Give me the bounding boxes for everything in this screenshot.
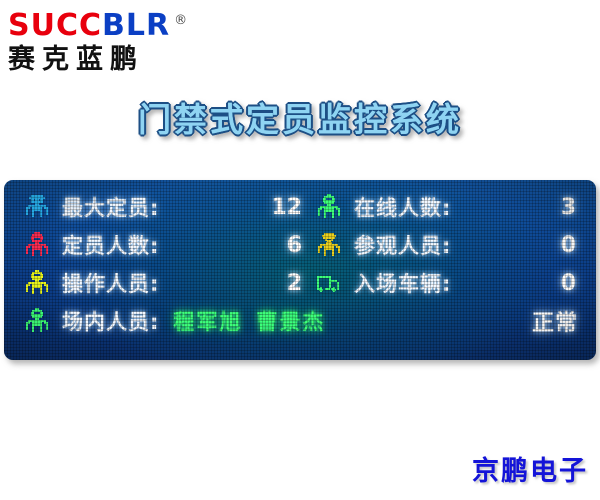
led-label-onsite: 场内人员: xyxy=(62,306,159,336)
person-visitor-icon xyxy=(314,230,344,260)
truck-icon xyxy=(314,268,344,298)
led-value: 2 xyxy=(287,271,314,296)
person-icon xyxy=(22,230,52,260)
led-label: 在线人数: xyxy=(354,192,451,222)
brand-wordmark-succ: SUCC xyxy=(8,8,102,43)
led-cell-max-capacity: 最大定员: 12 xyxy=(22,188,314,226)
led-value: 12 xyxy=(271,195,314,220)
brand-chinese-name: 赛克蓝鹏 xyxy=(8,43,228,77)
person-online-icon xyxy=(314,192,344,222)
led-label: 最大定员: xyxy=(62,192,159,222)
led-cell-operator-count: 操作人员: 2 xyxy=(22,264,314,302)
led-value: 3 xyxy=(561,195,582,220)
page-title: 门禁式定员监控系统 xyxy=(0,93,600,141)
led-cell-vehicle-count: 入场车辆: 0 xyxy=(314,264,582,302)
led-row-onsite-roster: 场内人员: 程军旭 曹景杰 正常 xyxy=(22,302,584,340)
brand-logo: SUCCBLR® 赛克蓝鹏 xyxy=(8,6,228,72)
led-row: 最大定员: 12 xyxy=(22,188,584,226)
person-operator-icon xyxy=(22,268,52,298)
led-label: 定员人数: xyxy=(62,230,159,260)
led-content: 最大定员: 12 xyxy=(4,180,596,360)
led-row: 定员人数: 6 xyxy=(22,226,584,264)
led-label: 操作人员: xyxy=(62,268,159,298)
led-cell-online-count: 在线人数: 3 xyxy=(314,188,582,226)
led-cell-visitor-count: 参观人员: 0 xyxy=(314,226,582,264)
person-helmet-icon xyxy=(22,192,52,222)
led-value: 0 xyxy=(561,271,582,296)
status-badge: 正常 xyxy=(532,305,584,337)
brand-wordmark-blr: BLR xyxy=(102,8,170,43)
brand-wordmark: SUCCBLR® xyxy=(8,6,228,41)
led-display-board: 最大定员: 12 xyxy=(4,180,596,360)
led-label: 入场车辆: xyxy=(354,268,451,298)
led-label: 参观人员: xyxy=(354,230,451,260)
onsite-name-2: 曹景杰 xyxy=(256,306,325,336)
led-value: 0 xyxy=(561,233,582,258)
onsite-name-1: 程军旭 xyxy=(173,306,242,336)
person-onsite-icon xyxy=(22,306,52,336)
led-row: 操作人员: 2 xyxy=(22,264,584,302)
registered-trademark-icon: ® xyxy=(174,13,188,28)
footer-company-logo: 京鹏电子 xyxy=(472,449,588,488)
led-cell-quota-count: 定员人数: 6 xyxy=(22,226,314,264)
led-value: 6 xyxy=(287,233,314,258)
